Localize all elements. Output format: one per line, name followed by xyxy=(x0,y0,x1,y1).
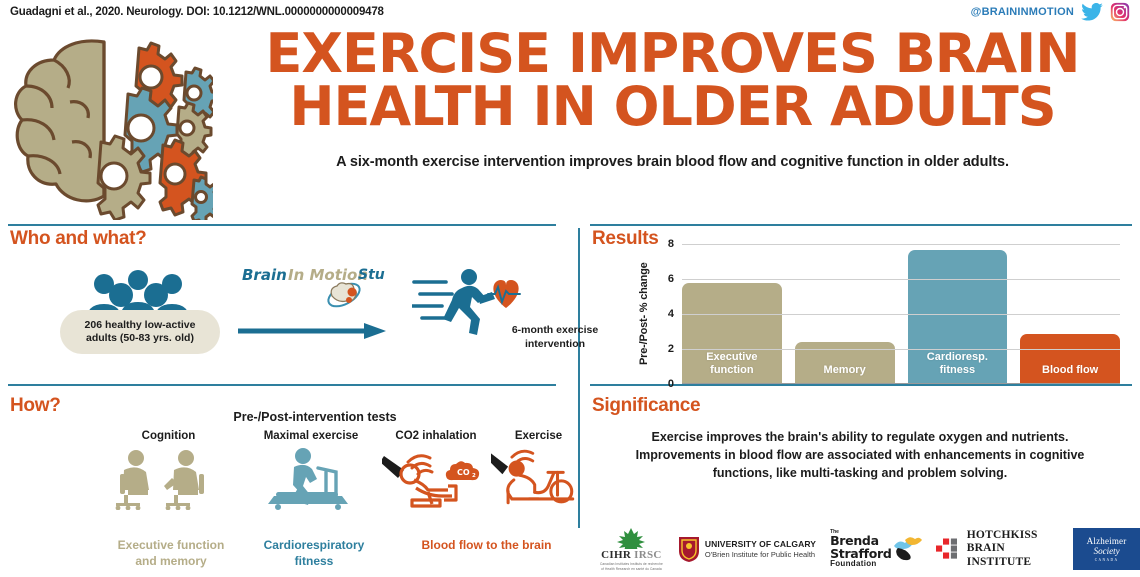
caption-blood-flow: Blood flow to the brain xyxy=(384,538,589,554)
social-handle: @BRAININMOTION xyxy=(971,6,1074,18)
svg-text:CO: CO xyxy=(457,468,470,477)
significance-text: Exercise improves the brain's ability to… xyxy=(610,428,1110,482)
intervention-line-2: intervention xyxy=(500,338,610,352)
svg-text:2: 2 xyxy=(472,473,476,479)
chart-bar: Executivefunction xyxy=(682,283,782,383)
logo-alz-line-3: CANADA xyxy=(1095,558,1119,562)
how-subtitle: Pre-/Post-intervention tests xyxy=(150,410,480,424)
logo-cihr-alt: IRSC xyxy=(634,549,662,561)
chart-bar-label: Memory xyxy=(824,364,866,377)
citation-text: Guadagni et al., 2020. Neurology. DOI: 1… xyxy=(10,6,384,18)
chart-bars: ExecutivefunctionMemoryCardioresp.fitnes… xyxy=(682,243,1120,383)
subtitle: A six-month exercise intervention improv… xyxy=(215,154,1130,170)
test-maximal-exercise: Maximal exercise xyxy=(241,430,381,510)
divider-left-top xyxy=(8,224,556,226)
caption-cardiorespiratory: Cardiorespiratory fitness xyxy=(244,538,384,569)
logo-hbi-line-1: HOTCHKISS xyxy=(967,529,1059,542)
section-title-how: How? xyxy=(10,395,61,417)
logo-brenda-strafford-foundation: The Brenda Strafford Foundation xyxy=(830,526,921,572)
brain-with-gears-icon xyxy=(8,30,213,220)
divider-left-mid xyxy=(8,384,556,386)
intervention-line-1: 6-month exercise xyxy=(500,324,610,338)
title-block: EXERCISE IMPROVES BRAIN HEALTH IN OLDER … xyxy=(215,28,1130,170)
caption-line-2: and memory xyxy=(96,554,246,570)
chart-y-tick-label: 2 xyxy=(668,343,674,355)
test-label: CO2 inhalation xyxy=(381,430,491,442)
logo-alz-line-2: Society xyxy=(1094,546,1120,556)
caption-executive-memory: Executive function and memory xyxy=(96,538,246,569)
test-cognition: Cognition xyxy=(96,430,241,510)
significance-line-1: Exercise improves the brain's ability to… xyxy=(610,428,1110,446)
chart-y-tick-label: 0 xyxy=(668,378,674,390)
infographic-poster: Guadagni et al., 2020. Neurology. DOI: 1… xyxy=(0,0,1140,577)
participants-line-1: 206 healthy low-active xyxy=(70,319,210,332)
caption-line-1: Executive function xyxy=(96,538,246,554)
chart-bar: Blood flow xyxy=(1020,334,1120,383)
chart-gridline xyxy=(682,349,1120,350)
test-label: Exercise xyxy=(491,430,586,442)
chart-gridline xyxy=(682,314,1120,315)
logo-alz-line-1: Alzheimer xyxy=(1087,536,1127,546)
hbi-squares-icon xyxy=(936,536,962,562)
participants-pill: 206 healthy low-active adults (50-83 yrs… xyxy=(60,310,220,354)
caption-line-2: fitness xyxy=(244,554,384,570)
chart-y-tick-label: 6 xyxy=(668,273,674,285)
right-arrow-icon xyxy=(238,322,388,340)
brain-in-motion-study-logo: Brain In Motion Study xyxy=(240,262,385,314)
svg-text:Study: Study xyxy=(358,267,385,283)
test-label: Maximal exercise xyxy=(241,430,381,442)
title-line-2: HEALTH IN OLDER ADULTS xyxy=(215,81,1130,134)
twitter-bird-icon[interactable] xyxy=(1081,3,1103,21)
chart-bar: Cardioresp.fitness xyxy=(908,250,1008,383)
recumbent-bike-mask-icon xyxy=(491,448,586,510)
significance-line-2: Improvements in blood flow are associate… xyxy=(610,446,1110,464)
caption-line-1: Cardiorespiratory xyxy=(244,538,384,554)
who-and-what-content: 206 healthy low-active adults (50-83 yrs… xyxy=(60,262,560,372)
logo-uofc-line-1: UNIVERSITY OF CALGARY xyxy=(705,539,816,549)
logo-cihr-sub-1: Canadian Institutes Instituts de recherc… xyxy=(600,562,663,566)
logo-cihr-main: CIHR xyxy=(601,549,631,561)
chart-y-tick-label: 8 xyxy=(668,238,674,250)
poster-header: EXERCISE IMPROVES BRAIN HEALTH IN OLDER … xyxy=(0,24,1140,222)
logo-university-of-calgary: UNIVERSITY OF CALGARY O'Brien Institute … xyxy=(677,526,816,572)
page-title: EXERCISE IMPROVES BRAIN HEALTH IN OLDER … xyxy=(215,28,1130,134)
test-label: Cognition xyxy=(96,430,241,442)
chart-bar-label: Executivefunction xyxy=(706,351,757,377)
test-exercise: Exercise xyxy=(491,430,586,510)
section-title-significance: Significance xyxy=(592,395,700,417)
two-people-seated-testing-icon xyxy=(96,448,241,510)
intervention-label: 6-month exercise intervention xyxy=(500,324,610,351)
treadmill-icon xyxy=(241,448,381,510)
logo-cihr-sub-2: of Health Research en santé du Canada xyxy=(601,567,662,571)
top-credit-bar: Guadagni et al., 2020. Neurology. DOI: 1… xyxy=(0,0,1140,24)
logo-cihr-text: CIHR IRSC xyxy=(601,549,662,561)
chart-y-tick-label: 4 xyxy=(668,308,674,320)
significance-line-3: functions, like multi-tasking and proble… xyxy=(610,464,1110,482)
chart-gridline xyxy=(682,244,1120,245)
instagram-camera-icon[interactable] xyxy=(1110,2,1130,22)
svg-text:In Motion: In Motion xyxy=(288,266,368,284)
reclining-chair-co2-mask-icon: CO 2 xyxy=(381,448,491,510)
logo-hotchkiss-brain-institute: HOTCHKISS BRAIN INSTITUTE xyxy=(936,526,1060,572)
social-links: @BRAININMOTION xyxy=(971,2,1130,22)
svg-text:Brain: Brain xyxy=(242,266,287,284)
tests-row: Cognition xyxy=(96,430,566,570)
results-bar-chart: Pre-/Post- % change 02468 Executivefunct… xyxy=(660,244,1120,384)
participants-line-2: adults (50-83 yrs. old) xyxy=(70,332,210,345)
logo-cihr: CIHR IRSC Canadian Institutes Instituts … xyxy=(600,526,663,572)
divider-right-top xyxy=(590,224,1132,226)
section-title-who: Who and what? xyxy=(10,228,146,250)
chart-plot-area: ExecutivefunctionMemoryCardioresp.fitnes… xyxy=(682,244,1120,384)
caption-line-1: Blood flow to the brain xyxy=(384,538,589,554)
chart-gridline xyxy=(682,279,1120,280)
funder-logos: CIHR IRSC Canadian Institutes Instituts … xyxy=(600,524,1140,574)
chart-bar-label: Cardioresp.fitness xyxy=(927,351,988,377)
logo-alzheimer-society: Alzheimer Society CANADA xyxy=(1073,528,1140,570)
logo-uofc-line-2: O'Brien Institute for Public Health xyxy=(705,550,816,559)
chart-y-axis-ticks: 02468 xyxy=(658,244,674,384)
logo-hbi-line-2: BRAIN INSTITUTE xyxy=(967,542,1059,568)
bsf-birds-icon xyxy=(892,536,922,562)
chart-bar-label: Blood flow xyxy=(1042,364,1098,377)
chart-y-axis-label: Pre-/Post- % change xyxy=(638,244,650,384)
logo-bsf-line-3: Foundation xyxy=(830,560,891,568)
test-co2-inhalation: CO2 inhalation xyxy=(381,430,491,510)
uofc-shield-icon xyxy=(677,535,701,563)
